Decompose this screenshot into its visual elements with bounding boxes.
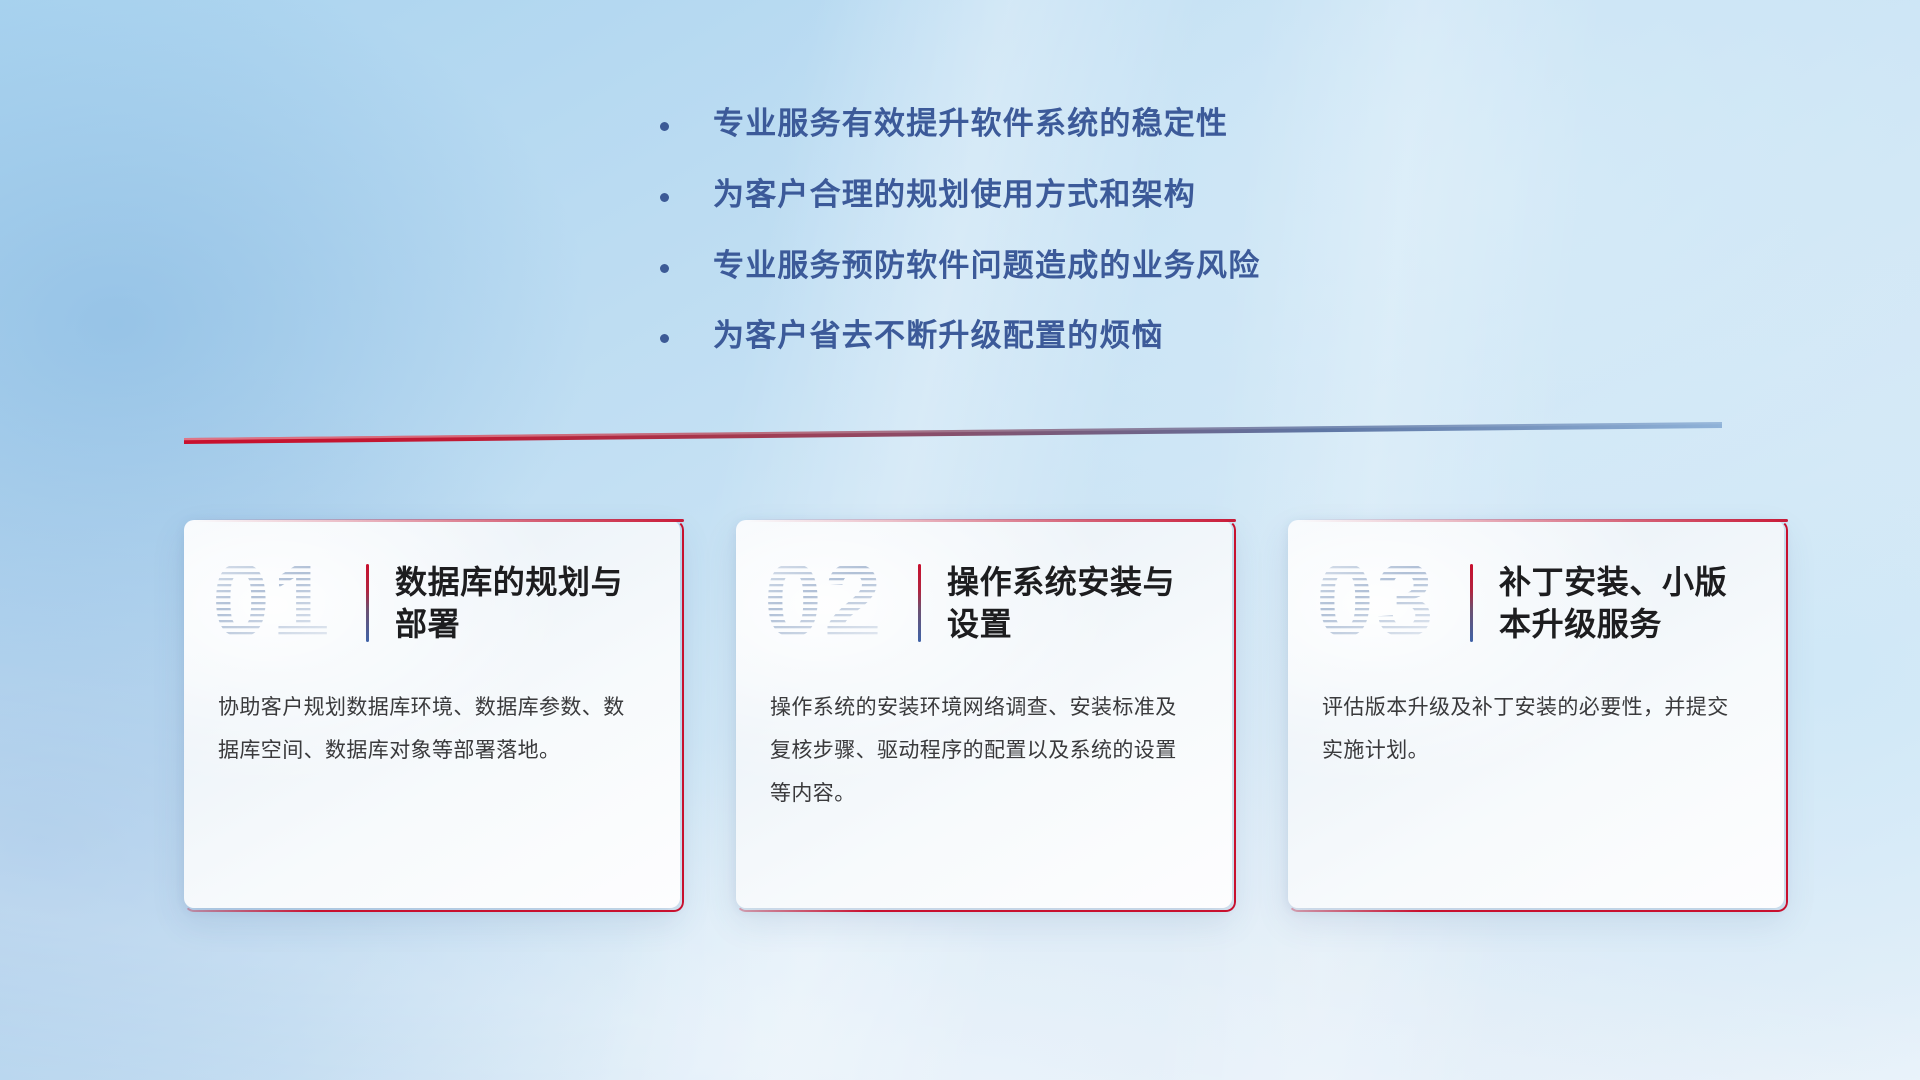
card-body-text: 操作系统的安装环境网络调查、安装标准及复核步骤、驱动程序的配置以及系统的设置等内… [736,686,1232,815]
list-item: 专业服务预防软件问题造成的业务风险 [660,247,1480,286]
bullet-dot-icon [660,264,669,273]
slide-root: 专业服务有效提升软件系统的稳定性 为客户合理的规划使用方式和架构 专业服务预防软… [0,0,1920,1080]
svg-text:03: 03 [1316,548,1436,658]
service-card[interactable]: 01 数据库的规划与部署 协助客户规划数据库环境、数据库参数、数据库空间、数据库… [184,520,680,908]
bullet-dot-icon [660,334,669,343]
list-item: 为客户省去不断升级配置的烦恼 [660,317,1480,356]
card-title: 数据库的规划与部署 [395,561,654,645]
title-accent-rule [366,564,369,642]
service-card[interactable]: 03 补丁安装、小版本升级服务 评估版本升级及补丁安装的必要性，并提交实施计划。 [1288,520,1784,908]
service-card-list: 01 数据库的规划与部署 协助客户规划数据库环境、数据库参数、数据库空间、数据库… [184,520,1784,908]
card-number-ghost: 03 [1312,548,1460,658]
section-divider [184,420,1722,446]
bullet-label: 专业服务有效提升软件系统的稳定性 [713,105,1228,144]
bullet-label: 为客户省去不断升级配置的烦恼 [713,317,1164,356]
service-card[interactable]: 02 操作系统安装与设置 操作系统的安装环境网络调查、安装标准及复核步骤、驱动程… [736,520,1232,908]
card-header: 01 数据库的规划与部署 [184,520,680,686]
card-title: 操作系统安装与设置 [947,561,1206,645]
card-number-ghost: 02 [760,548,908,658]
title-accent-rule [1470,564,1473,642]
svg-text:02: 02 [764,548,884,658]
list-item: 专业服务有效提升软件系统的稳定性 [660,105,1480,144]
card-title: 补丁安装、小版本升级服务 [1499,561,1758,645]
card-header: 02 操作系统安装与设置 [736,520,1232,686]
title-accent-rule [918,564,921,642]
card-body-text: 评估版本升级及补丁安装的必要性，并提交实施计划。 [1288,686,1784,772]
card-header: 03 补丁安装、小版本升级服务 [1288,520,1784,686]
bullet-dot-icon [660,122,669,131]
svg-text:01: 01 [212,548,332,658]
card-body-text: 协助客户规划数据库环境、数据库参数、数据库空间、数据库对象等部署落地。 [184,686,680,772]
benefits-bullet-list: 专业服务有效提升软件系统的稳定性 为客户合理的规划使用方式和架构 专业服务预防软… [660,105,1480,388]
bullet-dot-icon [660,193,669,202]
list-item: 为客户合理的规划使用方式和架构 [660,176,1480,215]
bullet-label: 为客户合理的规划使用方式和架构 [713,176,1196,215]
bullet-label: 专业服务预防软件问题造成的业务风险 [713,247,1260,286]
card-number-ghost: 01 [208,548,356,658]
